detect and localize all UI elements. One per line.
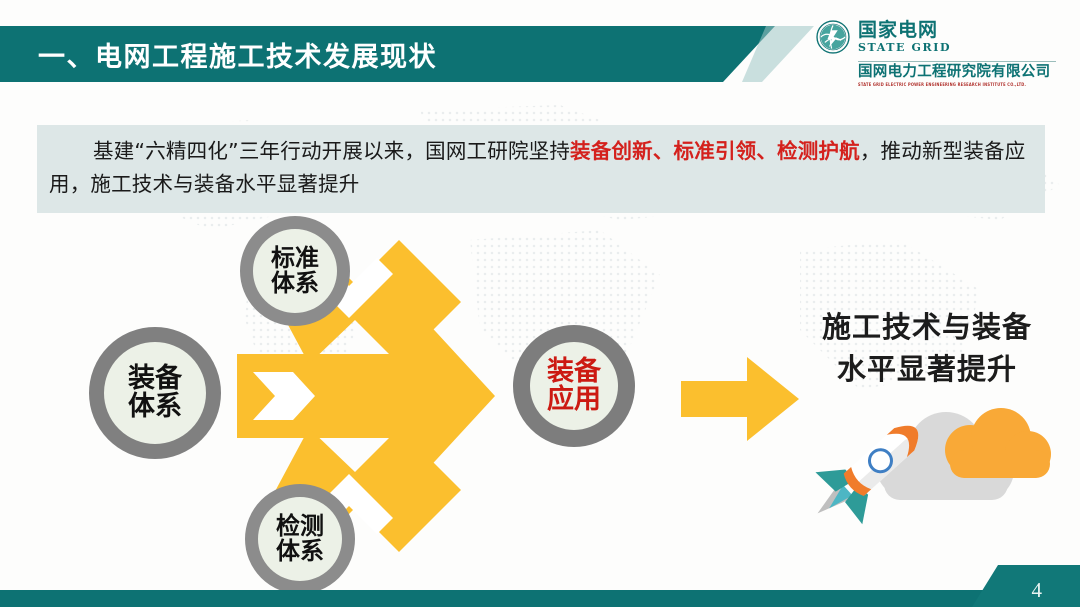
node-application-line2: 应用 [547,386,601,414]
logo-brand-en: STATE GRID [858,42,951,53]
node-equipment-application[interactable]: 装备 应用 [513,325,635,447]
footer-bar [0,590,1080,607]
intro-highlight: 装备创新、标准引领、检测护航 [570,139,860,163]
logo-company-cn: 国网电力工程研究院有限公司 [858,65,1066,81]
node-application-line1: 装备 [547,358,601,386]
node-equipment-line2: 体系 [128,393,182,421]
node-standard-line2: 体系 [271,271,319,296]
intro-text-part1: 基建“六精四化”三年行动开展以来，国网工研院坚持 [93,139,570,163]
logo-divider [858,61,1056,62]
node-detection-line1: 检测 [276,514,324,539]
node-equipment-system[interactable]: 装备 体系 [89,327,221,459]
node-detection-system[interactable]: 检测 体系 [245,484,355,594]
header-banner: 一、电网工程施工技术发展现状 [0,26,860,82]
node-detection-line2: 体系 [276,539,324,564]
rocket-cloud-illustration [812,408,1052,573]
page-title: 一、电网工程施工技术发展现状 [38,26,437,82]
result-headline-line1: 施工技术与装备 [782,306,1072,348]
node-standard-line1: 标准 [271,246,319,271]
node-standard-system[interactable]: 标准 体系 [240,216,350,326]
logo-brand-cn: 国家电网 [858,21,951,40]
node-equipment-line1: 装备 [128,365,182,393]
slide-canvas: 一、电网工程施工技术发展现状 国家电网 STATE GRID 国网电力工程研究院… [0,0,1080,607]
logo-company-en: STATE GRID ELECTRIC POWER ENGINEERING RE… [858,82,1066,87]
intro-paragraph: 基建“六精四化”三年行动开展以来，国网工研院坚持装备创新、标准引领、检测护航，推… [37,125,1045,213]
state-grid-emblem-icon [816,20,850,54]
state-grid-logo: 国家电网 STATE GRID 国网电力工程研究院有限公司 STATE GRID… [816,16,1066,88]
result-headline: 施工技术与装备 水平显著提升 [782,306,1072,390]
result-headline-line2: 水平显著提升 [782,348,1072,390]
page-number: 4 [1032,578,1043,603]
